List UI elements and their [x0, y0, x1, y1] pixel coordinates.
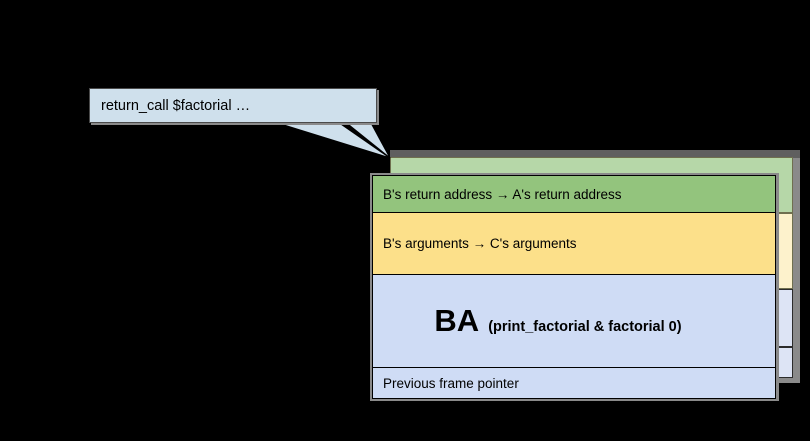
locals-label-main: BA — [434, 303, 479, 339]
locals-label-group: BA (print_factorial & factorial 0) — [434, 303, 681, 339]
return-address-row: B's return address → A's return address — [373, 176, 775, 213]
stack-frame: B's return address → A's return address … — [372, 175, 776, 399]
previous-frame-pointer-label: Previous frame pointer — [373, 376, 519, 391]
arguments-row: B's arguments → C's arguments — [373, 213, 775, 275]
locals-label-sub: (print_factorial & factorial 0) — [488, 319, 681, 335]
diagram-canvas: B's return address → A's return address … — [0, 0, 810, 441]
arguments-label: B's arguments → C's arguments — [373, 236, 576, 251]
callout-bubble: return_call $factorial … — [89, 88, 377, 123]
return-address-label: B's return address → A's return address — [373, 187, 622, 202]
callout-label: return_call $factorial … — [90, 98, 250, 114]
previous-frame-pointer-row: Previous frame pointer — [373, 368, 775, 398]
locals-row: BA (print_factorial & factorial 0) — [373, 275, 775, 368]
